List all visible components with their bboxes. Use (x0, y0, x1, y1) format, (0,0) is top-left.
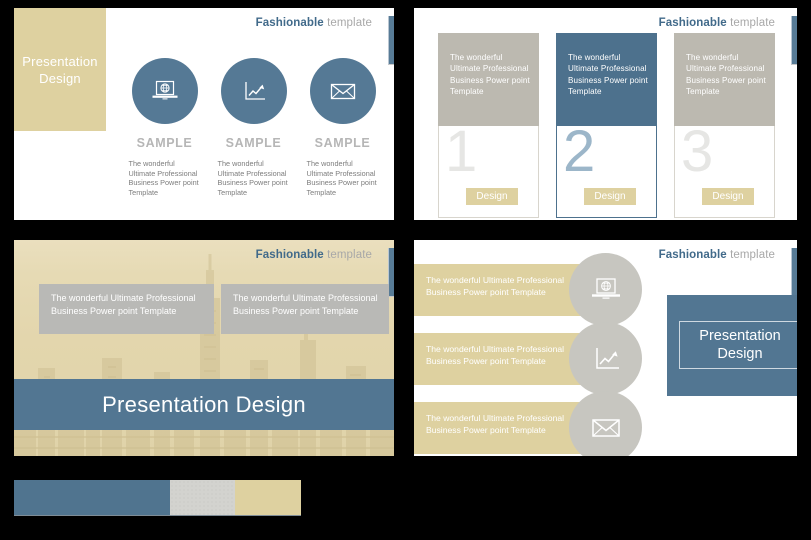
brand-bold: Fashionable (659, 249, 727, 261)
icon-circle (569, 322, 642, 395)
feature-description: The wonderful Ultimate Professional Busi… (129, 159, 201, 197)
laptop-globe-icon (589, 276, 623, 304)
feature-column[interactable]: SAMPLE The wonderful Ultimate Profession… (120, 58, 209, 197)
slide-3[interactable]: Fashionable template The wonderful Ultim… (14, 240, 394, 456)
brand-light: template (730, 249, 775, 261)
option-column-2[interactable]: The wonderful Ultimate Professional Busi… (556, 33, 657, 218)
brand-bold: Fashionable (659, 17, 727, 29)
option-text: The wonderful Ultimate Professional Busi… (568, 52, 650, 98)
option-number: 3 (681, 123, 713, 181)
feature-column[interactable]: SAMPLE The wonderful Ultimate Profession… (209, 58, 298, 197)
option-number: 2 (563, 123, 595, 181)
option-column-1[interactable]: The wonderful Ultimate Professional Busi… (438, 33, 539, 218)
option-text: The wonderful Ultimate Professional Busi… (686, 52, 768, 98)
feature-description: The wonderful Ultimate Professional Busi… (307, 159, 379, 197)
slide-deck-canvas: Fashionable template PresentationDesign (0, 0, 811, 540)
brand-label: Fashionable template (659, 17, 775, 29)
swatch-neutral-gray (170, 480, 235, 515)
brand-light: template (327, 17, 372, 29)
swatch-accent-tan (235, 480, 301, 515)
brand-label: Fashionable template (256, 17, 372, 29)
design-button[interactable]: Design (466, 188, 518, 205)
option-column-3[interactable]: The wonderful Ultimate Professional Busi… (674, 33, 775, 218)
icon-circle (310, 58, 376, 124)
title-panel-text: PresentationDesign (22, 53, 97, 87)
laptop-globe-icon (150, 79, 180, 103)
brand-light: template (327, 249, 372, 261)
option-columns: The wonderful Ultimate Professional Busi… (438, 33, 775, 218)
slide-1[interactable]: Fashionable template PresentationDesign (14, 8, 394, 220)
brand-accent-bar (388, 16, 394, 65)
content-box-left: The wonderful Ultimate Professional Busi… (39, 284, 214, 334)
brand-label: Fashionable template (659, 249, 775, 261)
option-text: The wonderful Ultimate Professional Busi… (450, 52, 532, 98)
icon-circle (569, 253, 642, 326)
highlight-panel-title: PresentationDesign (699, 327, 780, 363)
highlight-panel-frame: PresentationDesign (679, 321, 797, 369)
feature-label: SAMPLE (315, 136, 371, 150)
brand-label: Fashionable template (256, 249, 372, 261)
icon-circle (221, 58, 287, 124)
slide-2[interactable]: Fashionable template The wonderful Ultim… (414, 8, 797, 220)
icon-circle (569, 391, 642, 456)
brand-bold: Fashionable (256, 17, 324, 29)
feature-description: The wonderful Ultimate Professional Busi… (218, 159, 290, 197)
design-button[interactable]: Design (702, 188, 754, 205)
line-chart-icon (240, 79, 268, 103)
banner-title: Presentation Design (102, 392, 306, 418)
option-number: 1 (445, 123, 477, 181)
brand-accent-bar (791, 16, 797, 65)
color-palette-bar (14, 480, 301, 516)
design-button[interactable]: Design (584, 188, 636, 205)
brand-bold: Fashionable (256, 249, 324, 261)
feature-label: SAMPLE (137, 136, 193, 150)
brand-light: template (730, 17, 775, 29)
envelope-icon (328, 80, 358, 102)
feature-column[interactable]: SAMPLE The wonderful Ultimate Profession… (298, 58, 387, 197)
title-panel: PresentationDesign (14, 8, 106, 131)
banner: Presentation Design (14, 379, 394, 430)
content-box-right: The wonderful Ultimate Professional Busi… (221, 284, 389, 334)
highlight-panel: PresentationDesign (667, 295, 797, 396)
slide-4[interactable]: Fashionable template The wonderful Ultim… (414, 240, 797, 456)
feature-label: SAMPLE (226, 136, 282, 150)
swatch-accent-blue (14, 480, 170, 515)
brand-accent-bar (791, 248, 797, 297)
line-chart-icon (590, 345, 622, 373)
feature-columns: SAMPLE The wonderful Ultimate Profession… (120, 58, 388, 197)
icon-circle (132, 58, 198, 124)
envelope-icon (589, 415, 623, 441)
